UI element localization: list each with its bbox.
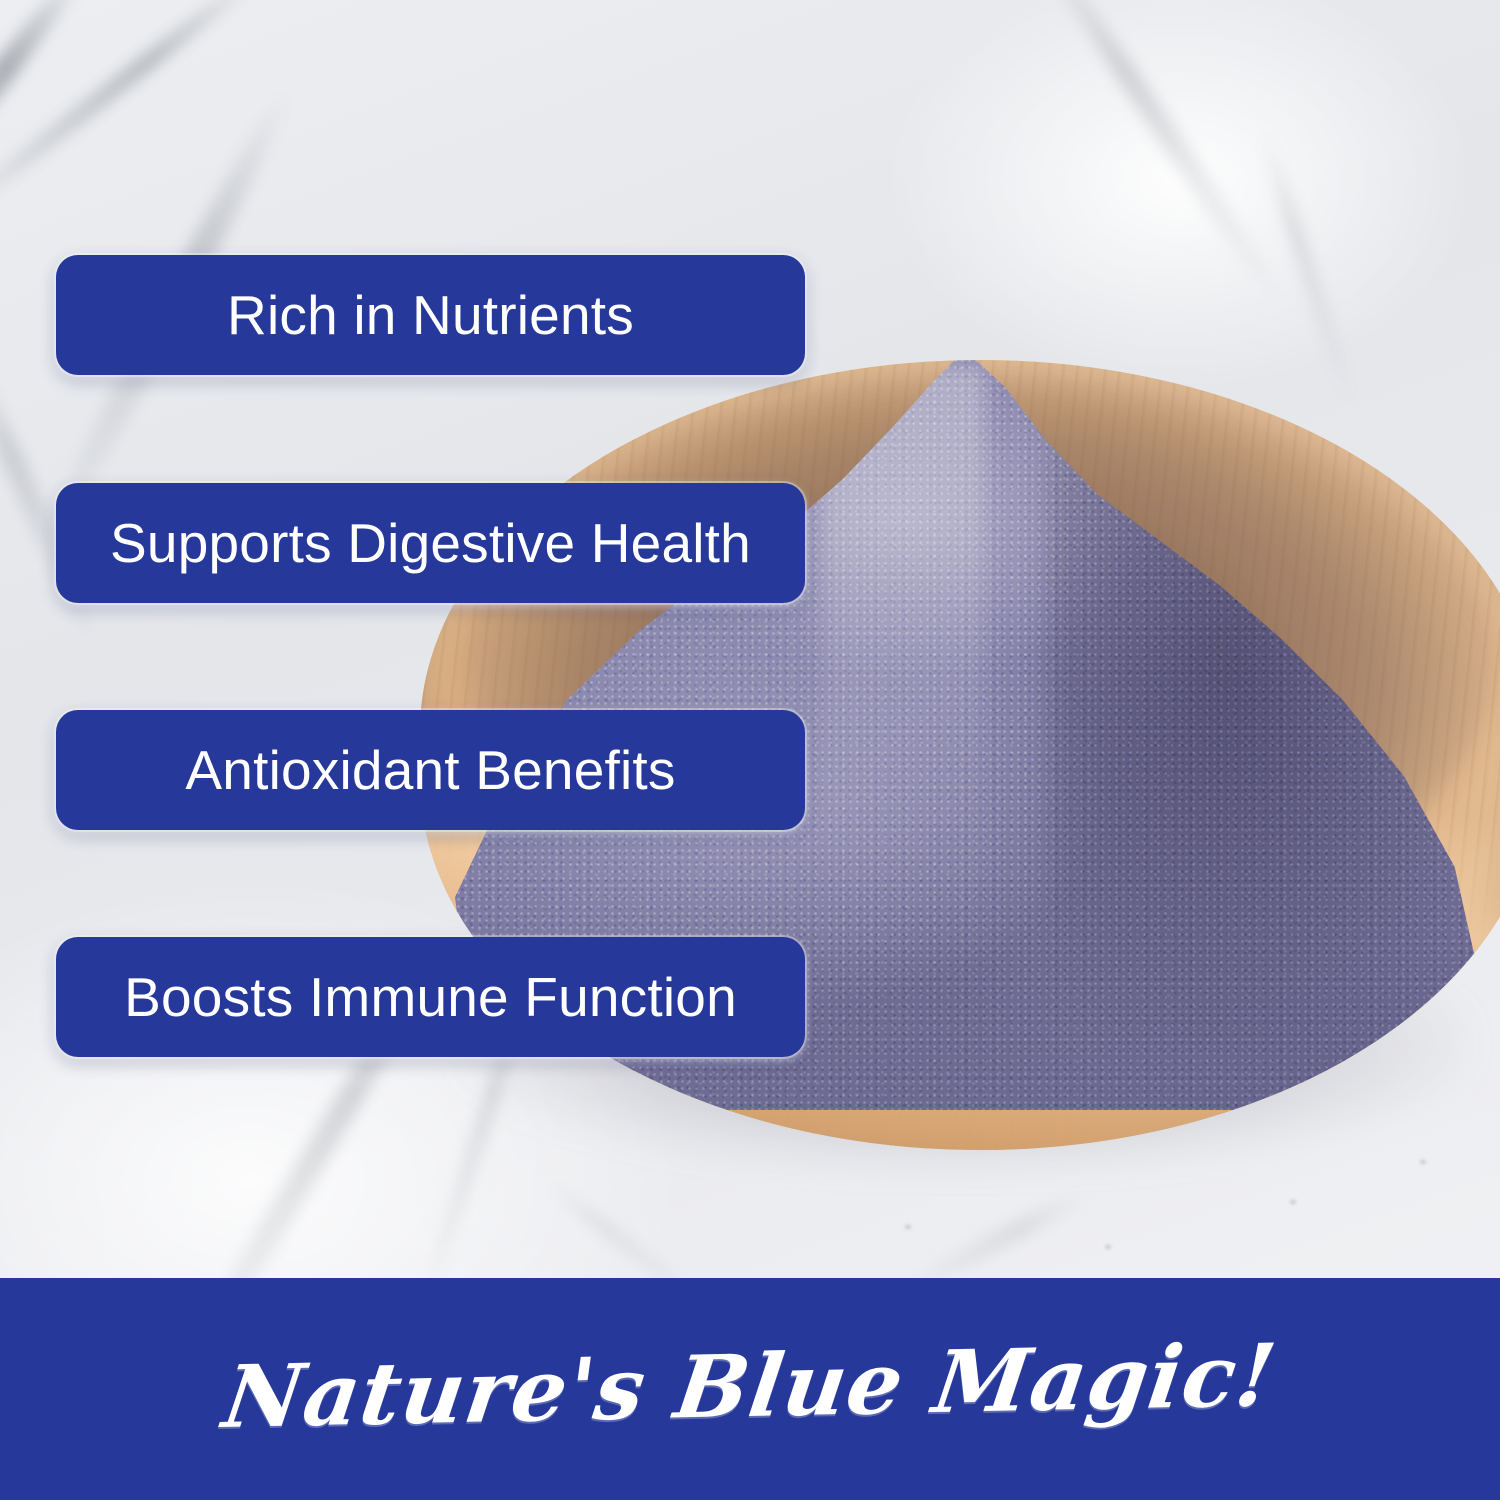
tagline-text: Nature's Blue Magic!: [218, 1325, 1283, 1448]
marble-speck: [1105, 1245, 1111, 1249]
benefit-badge-label: Supports Digestive Health: [110, 511, 751, 575]
footer-banner: Nature's Blue Magic!: [0, 1278, 1500, 1500]
benefit-badge-label: Boosts Immune Function: [124, 965, 737, 1029]
benefit-badge-supports-digestive-health[interactable]: Supports Digestive Health: [56, 483, 805, 603]
marble-speck: [1290, 1200, 1296, 1204]
marble-vein: [1032, 0, 1291, 309]
benefit-badge-boosts-immune-function[interactable]: Boosts Immune Function: [56, 937, 805, 1057]
benefit-badge-label: Antioxidant Benefits: [185, 738, 675, 802]
benefit-badge-label: Rich in Nutrients: [227, 283, 634, 347]
marble-speck: [905, 1225, 911, 1229]
benefit-badge-antioxidant-benefits[interactable]: Antioxidant Benefits: [56, 710, 805, 830]
product-marketing-image: Rich in Nutrients Supports Digestive Hea…: [0, 0, 1500, 1500]
benefit-badge-rich-in-nutrients[interactable]: Rich in Nutrients: [56, 255, 805, 375]
